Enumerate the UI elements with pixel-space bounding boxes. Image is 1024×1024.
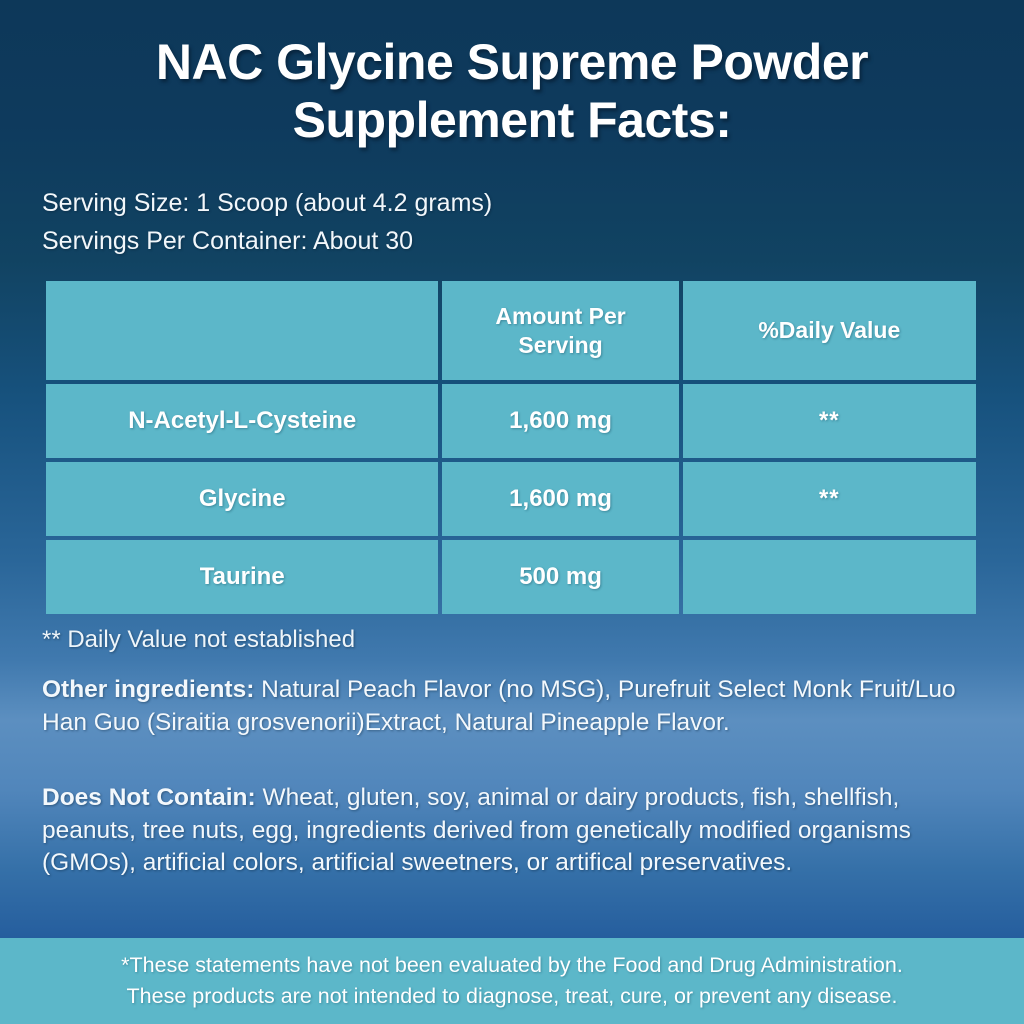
table-row: Glycine 1,600 mg **: [46, 462, 976, 536]
title-line-1: NAC Glycine Supreme Powder: [42, 34, 982, 92]
row-amount-per-serving: 1,600 mg: [442, 384, 678, 458]
serving-information: Serving Size: 1 Scoop (about 4.2 grams) …: [42, 184, 982, 260]
header-nutrient: [46, 281, 438, 380]
header-amount-line-2: Serving: [518, 332, 602, 358]
row-daily-value: **: [683, 462, 976, 536]
table-header-row: Amount Per Serving %Daily Value: [46, 281, 976, 380]
row-amount-per-serving: 500 mg: [442, 540, 678, 614]
other-ingredients-paragraph: Other ingredients: Natural Peach Flavor …: [42, 674, 988, 739]
row-amount-per-serving: 1,600 mg: [442, 462, 678, 536]
row-nutrient-name: N-Acetyl-L-Cysteine: [46, 384, 438, 458]
other-ingredients-label: Other ingredients:: [42, 676, 254, 703]
title-line-2: Supplement Facts:: [42, 92, 982, 150]
servings-per-container-text: Servings Per Container: About 30: [42, 222, 982, 260]
page-title: NAC Glycine Supreme Powder Supplement Fa…: [42, 34, 982, 149]
row-nutrient-name: Taurine: [46, 540, 438, 614]
serving-size-text: Serving Size: 1 Scoop (about 4.2 grams): [42, 184, 982, 222]
table-row: Taurine 500 mg: [46, 540, 976, 614]
fda-disclaimer-band: *These statements have not been evaluate…: [0, 938, 1024, 1024]
does-not-contain-paragraph: Does Not Contain: Wheat, gluten, soy, an…: [42, 782, 988, 880]
header-amount-line-1: Amount Per: [495, 303, 625, 329]
daily-value-footnote: ** Daily Value not established: [42, 626, 982, 654]
row-daily-value: **: [683, 384, 976, 458]
header-daily-value: %Daily Value: [683, 281, 976, 380]
row-nutrient-name: Glycine: [46, 462, 438, 536]
table-row: N-Acetyl-L-Cysteine 1,600 mg **: [46, 384, 976, 458]
header-amount-per-serving: Amount Per Serving: [442, 281, 678, 380]
supplement-facts-label: NAC Glycine Supreme Powder Supplement Fa…: [0, 0, 1024, 1024]
supplement-facts-table: Amount Per Serving %Daily Value N-Acetyl…: [42, 277, 980, 618]
does-not-contain-label: Does Not Contain:: [42, 784, 256, 811]
row-daily-value: [683, 540, 976, 614]
disclaimer-line-1: *These statements have not been evaluate…: [121, 950, 903, 981]
disclaimer-line-2: These products are not intended to diagn…: [127, 981, 898, 1012]
